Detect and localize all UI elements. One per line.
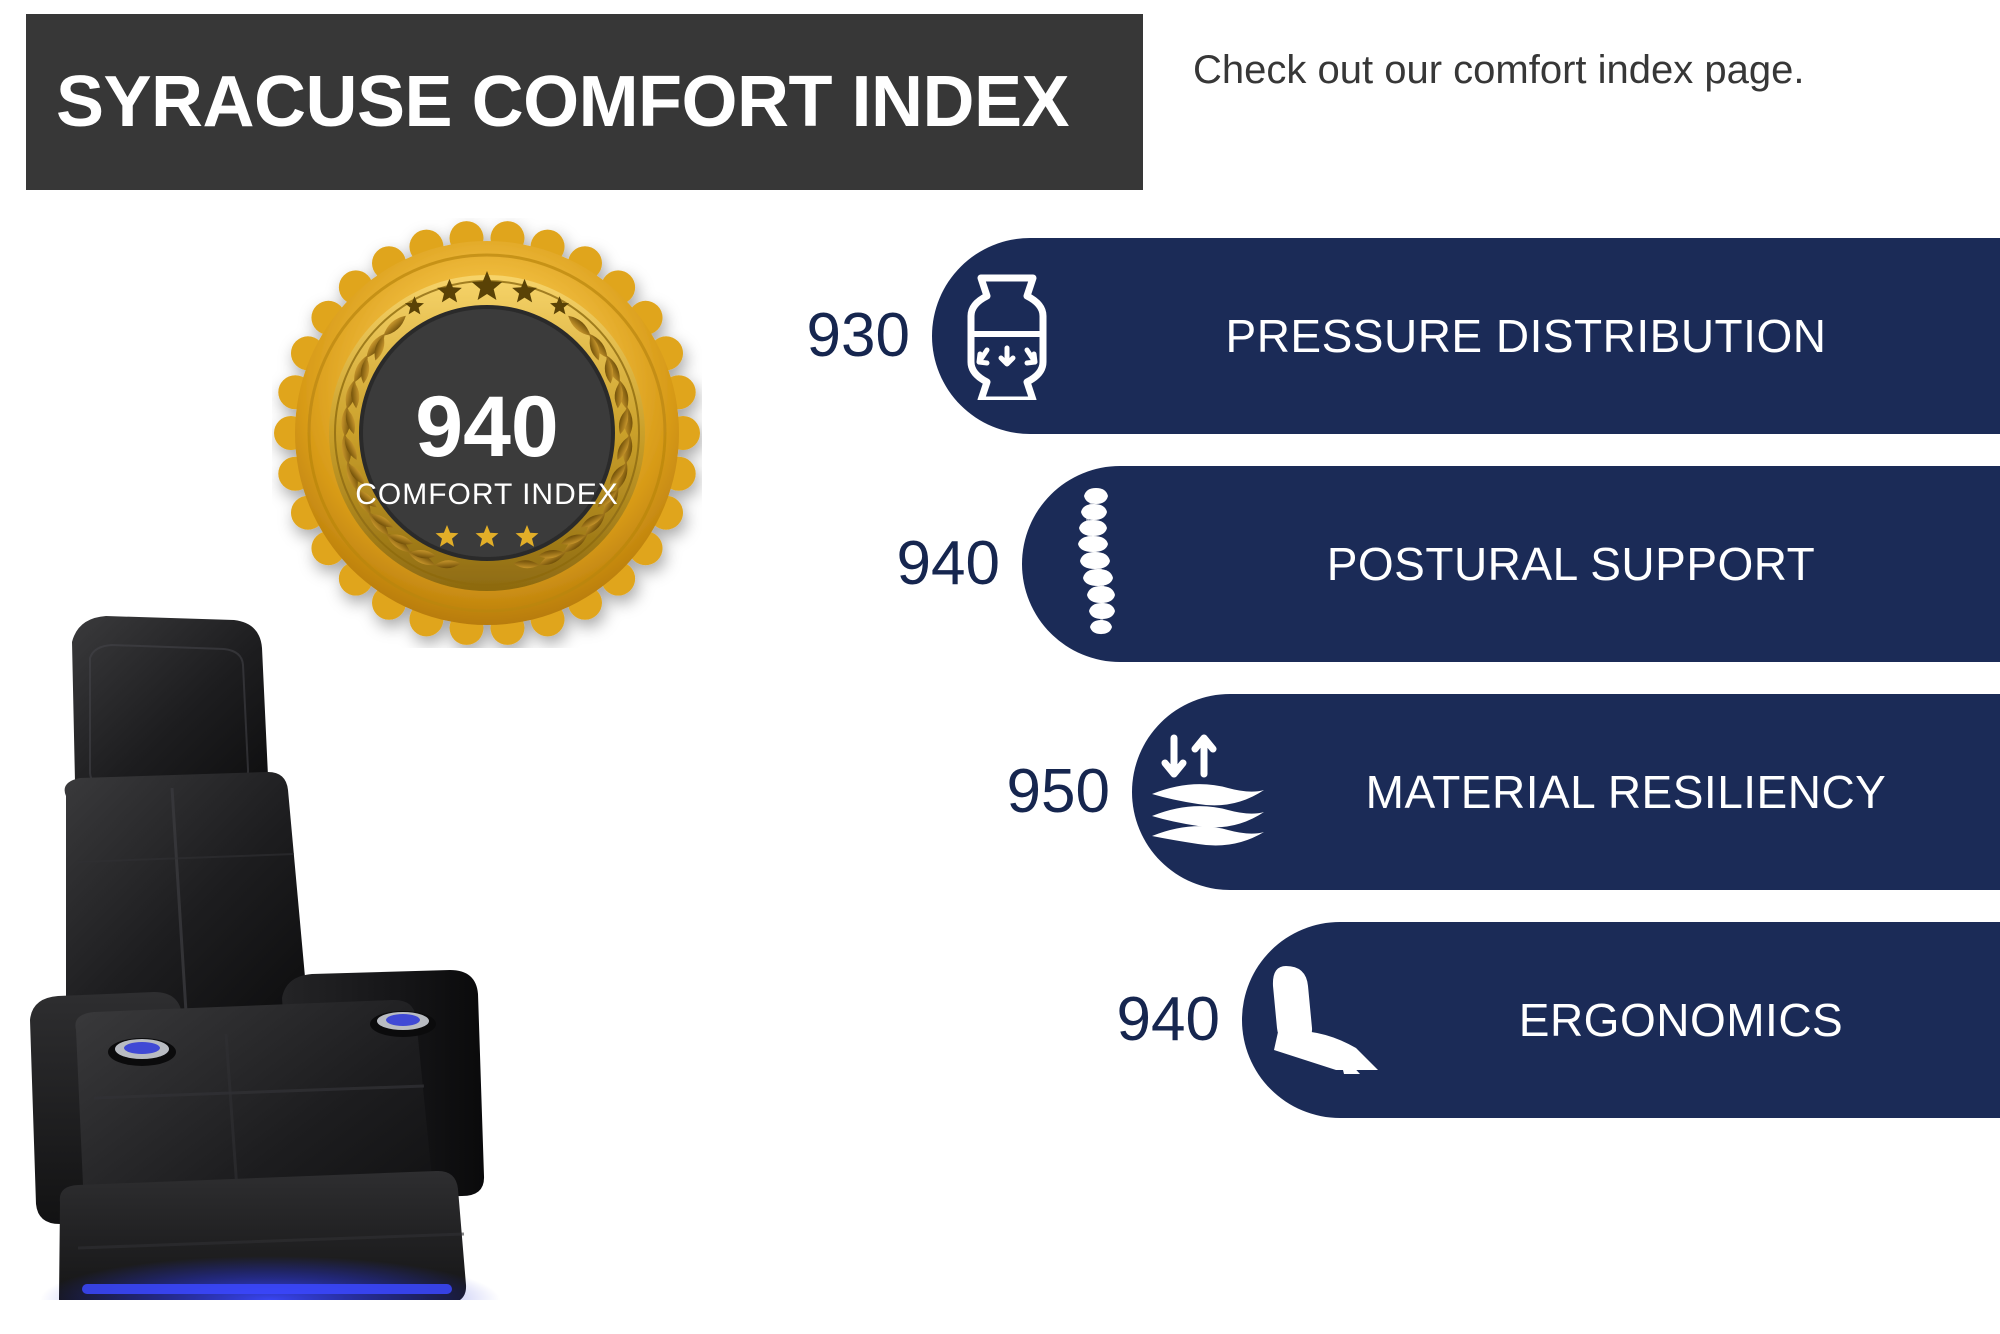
page-title: SYRACUSE COMFORT INDEX	[56, 66, 1069, 138]
chart-bar-row-0: 930 PRESSURE DISTRIBUTION	[740, 238, 2000, 434]
header-subtitle: Check out our comfort index page.	[1193, 48, 1893, 92]
recliner-graphic	[20, 600, 610, 1300]
bar-score-1: 940	[830, 533, 1022, 595]
product-image-recliner	[20, 600, 610, 1300]
chart-bar-row-1: 940 POSTURAL SUPPORT	[830, 466, 2000, 662]
spine-icon	[1022, 484, 1172, 644]
comfort-index-badge: 940 COMFORT INDEX	[272, 218, 702, 648]
cushion-compression-icon	[932, 272, 1082, 400]
bar-label-0: PRESSURE DISTRIBUTION	[1082, 309, 2000, 363]
badge-score: 940	[415, 379, 559, 475]
header-title-banner: SYRACUSE COMFORT INDEX	[26, 14, 1143, 190]
bar-score-2: 950	[940, 761, 1132, 823]
cup-holder-left	[108, 1038, 176, 1066]
bar-ergonomics: ERGONOMICS	[1242, 922, 2000, 1118]
chart-bar-row-2: 950 MATERIAL RESILIENCY	[940, 694, 2000, 890]
bar-postural-support: POSTURAL SUPPORT	[1022, 466, 2000, 662]
seat-posture-icon	[1242, 960, 1392, 1080]
bar-label-2: MATERIAL RESILIENCY	[1282, 765, 2000, 819]
bar-label-3: ERGONOMICS	[1392, 993, 2000, 1047]
bar-label-1: POSTURAL SUPPORT	[1172, 537, 2000, 591]
bar-material-resiliency: MATERIAL RESILIENCY	[1132, 694, 2000, 890]
bar-score-0: 930	[740, 305, 932, 367]
layered-foam-icon	[1132, 732, 1282, 852]
badge-graphic: 940 COMFORT INDEX	[272, 218, 702, 648]
badge-caption: COMFORT INDEX	[355, 478, 619, 511]
cup-holder-right	[370, 1011, 436, 1037]
bar-pressure-distribution: PRESSURE DISTRIBUTION	[932, 238, 2000, 434]
bar-score-3: 940	[1050, 989, 1242, 1051]
chart-bar-row-3: 940 ERGONOMICS	[1050, 922, 2000, 1118]
